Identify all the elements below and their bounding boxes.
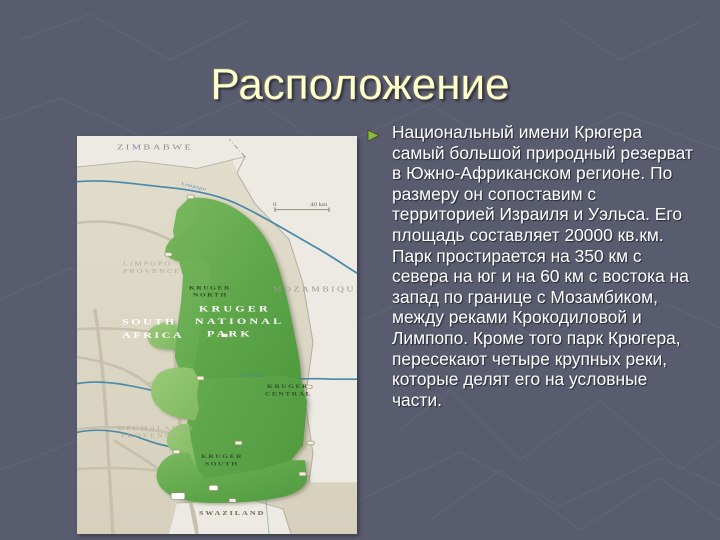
map-label-swaziland: SWAZILAND [199, 510, 265, 517]
map-label-kruger-south: KRUGER [201, 454, 243, 460]
map-label-kruger-central: KRUGER [267, 384, 309, 390]
slide-title: Расположение [0, 59, 720, 111]
map-label-mpumalanga: MPUMALANGA [117, 425, 195, 432]
list-item: Национальный имени Крюгера самый большой… [367, 122, 697, 410]
map-label-south-africa: SOUTH [122, 318, 177, 327]
map-label-river-olifants: Olifants [241, 372, 265, 378]
map-label-limpopo: LIMPOPO [123, 261, 172, 268]
map-label-mozambique: MOZAMBIQUE [273, 286, 357, 294]
map-label-kruger-north-sub: NORTH [193, 292, 228, 298]
map-label-limpopo-sub: PROVENCE [123, 268, 181, 275]
map-label-park-line1: KRUGER [199, 305, 271, 314]
map-label-park-line3: PARK [207, 330, 253, 339]
map-label-south-africa-sub: AFRICA [122, 331, 184, 340]
location-map-image: 0 40 km ZIMBABWE LIMPOPO PROVENCE MOZAMB… [77, 136, 357, 534]
map-label-mpumalanga-sub: PROVENCE [121, 432, 179, 439]
map-label-kruger-south-sub: SOUTH [205, 461, 239, 467]
kruger-park-map: 0 40 km ZIMBABWE LIMPOPO PROVENCE MOZAMB… [77, 136, 357, 534]
content-text-block: Национальный имени Крюгера самый большой… [367, 122, 697, 410]
map-label-kruger-north: KRUGER [189, 285, 231, 291]
map-label-park-line2: NATIONAL [195, 317, 284, 326]
map-scale-max-label: 40 km [310, 203, 328, 208]
map-scale-zero-label: 0 [273, 203, 276, 208]
map-label-zimbabwe: ZIMBABWE [117, 143, 193, 151]
list-item-label: Национальный имени Крюгера самый большой… [392, 122, 697, 410]
map-label-kruger-central-sub: CENTRAL [265, 391, 312, 397]
triangle-bullet-icon [367, 129, 381, 142]
